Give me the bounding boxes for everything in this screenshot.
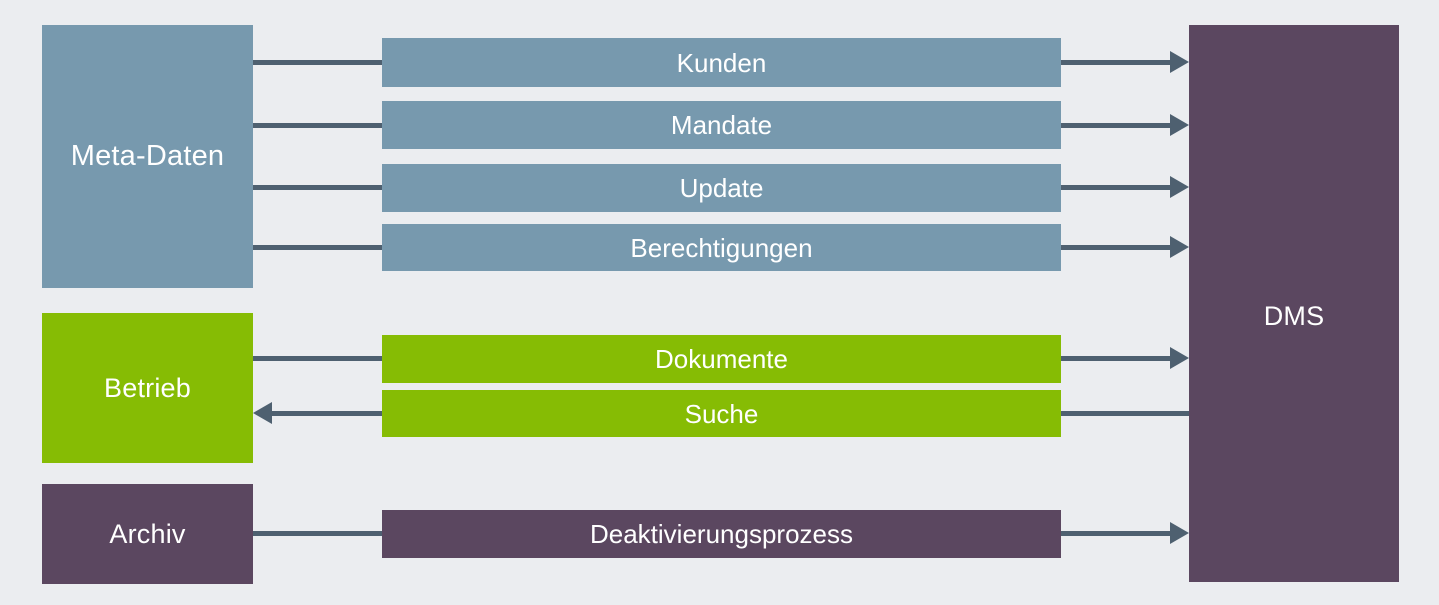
connector-arrow-update-to-dms xyxy=(1061,185,1170,190)
diagram-canvas: Meta-Daten Betrieb Archiv DMS Kunden Man… xyxy=(0,0,1439,605)
connector-stub-berechtigungen xyxy=(253,245,382,250)
connector-stub-dokumente xyxy=(253,356,382,361)
source-label-archiv: Archiv xyxy=(109,521,185,548)
connector-arrow-kunden-to-dms xyxy=(1061,60,1170,65)
flow-label-berechtigungen: Berechtigungen xyxy=(630,235,812,261)
connector-arrow-deaktivierungsprozess-to-dms xyxy=(1061,531,1170,536)
connector-stub-deaktivierungsprozess xyxy=(253,531,382,536)
target-label-dms: DMS xyxy=(1264,303,1325,330)
flow-label-suche: Suche xyxy=(685,401,759,427)
connector-arrow-suche-to-betrieb xyxy=(272,411,382,416)
flow-bar-mandate[interactable]: Mandate xyxy=(382,101,1061,149)
flow-label-deaktivierungsprozess: Deaktivierungsprozess xyxy=(590,521,853,547)
target-block-dms[interactable]: DMS xyxy=(1189,25,1399,582)
flow-bar-suche[interactable]: Suche xyxy=(382,390,1061,437)
connector-arrow-dokumente-to-dms xyxy=(1061,356,1170,361)
flow-bar-dokumente[interactable]: Dokumente xyxy=(382,335,1061,383)
source-label-betrieb: Betrieb xyxy=(104,375,191,402)
connector-arrow-berechtigungen-to-dms xyxy=(1061,245,1170,250)
flow-bar-update[interactable]: Update xyxy=(382,164,1061,212)
connector-stub-kunden xyxy=(253,60,382,65)
flow-label-kunden: Kunden xyxy=(677,50,767,76)
connector-arrow-mandate-to-dms xyxy=(1061,123,1170,128)
source-label-meta-daten: Meta-Daten xyxy=(71,142,225,171)
flow-bar-berechtigungen[interactable]: Berechtigungen xyxy=(382,224,1061,271)
flow-label-mandate: Mandate xyxy=(671,112,772,138)
connector-stub-update xyxy=(253,185,382,190)
flow-bar-deaktivierungsprozess[interactable]: Deaktivierungsprozess xyxy=(382,510,1061,558)
source-block-meta-daten[interactable]: Meta-Daten xyxy=(42,25,253,288)
flow-label-dokumente: Dokumente xyxy=(655,346,788,372)
connector-stub-mandate xyxy=(253,123,382,128)
flow-label-update: Update xyxy=(680,175,764,201)
flow-bar-kunden[interactable]: Kunden xyxy=(382,38,1061,87)
source-block-betrieb[interactable]: Betrieb xyxy=(42,313,253,463)
connector-line-dms-to-suche xyxy=(1061,411,1189,416)
source-block-archiv[interactable]: Archiv xyxy=(42,484,253,584)
